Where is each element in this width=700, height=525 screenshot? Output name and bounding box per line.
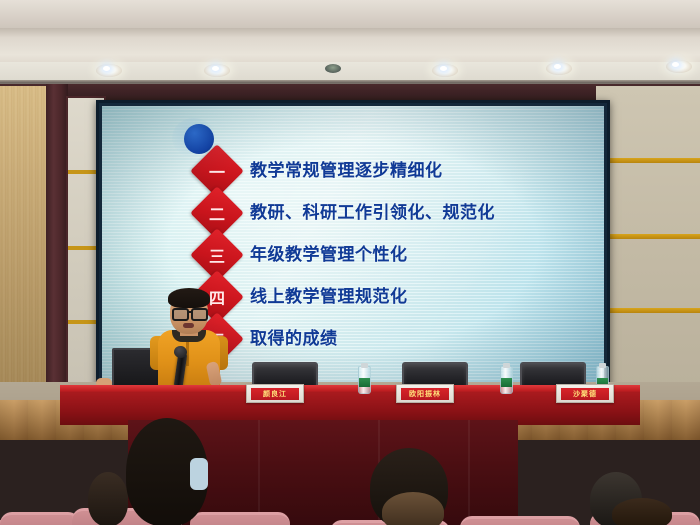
audience-head [612, 498, 672, 525]
nameplate: 沙聚德 [556, 384, 614, 403]
nameplate-text: 沙聚德 [561, 388, 609, 400]
left-wood-wall [0, 86, 48, 416]
audience-seat [190, 512, 290, 525]
downlight-icon [103, 66, 110, 71]
audience-seat [460, 516, 580, 525]
face-mask [190, 458, 208, 490]
bottle-cap [361, 363, 368, 368]
speaker-mouth [183, 323, 194, 328]
presentation-photo-scene: 一 教学常规管理逐步精细化 二 教研、科研工作引领化、规范化 三 年级教学管理个… [0, 0, 700, 525]
downlight-icon [440, 66, 447, 71]
water-bottle [358, 366, 371, 394]
bottle-label [359, 378, 370, 387]
downlight-icon [672, 62, 679, 67]
ceiling-soffit [0, 28, 700, 66]
audience-head [88, 472, 128, 525]
downlight-icon [554, 64, 561, 69]
nameplate-text: 欧阳振林 [401, 388, 449, 400]
gold-stripe [596, 234, 700, 239]
glasses-icon [172, 308, 189, 321]
nameplate: 颜良江 [246, 384, 304, 403]
audience-seat [0, 512, 80, 525]
gold-stripe [596, 158, 700, 163]
left-pillar [46, 84, 68, 418]
speaker-hair [168, 288, 210, 308]
downlight-icon [212, 66, 219, 71]
ceiling-sensor-icon [325, 64, 341, 73]
curtain-fold [468, 420, 470, 525]
audience-hair [382, 492, 444, 525]
glasses-bridge [187, 311, 191, 313]
bottle-cap [503, 363, 510, 368]
downlight-icon [666, 60, 692, 73]
right-wall-panel [596, 86, 700, 416]
water-bottle [500, 366, 513, 394]
bottle-cap [599, 363, 606, 368]
bottle-label [501, 378, 512, 387]
glasses-icon [191, 308, 208, 321]
nameplate: 欧阳振林 [396, 384, 454, 403]
gold-stripe [596, 308, 700, 313]
curtain-fold [258, 420, 260, 525]
nameplate-text: 颜良江 [251, 388, 299, 400]
